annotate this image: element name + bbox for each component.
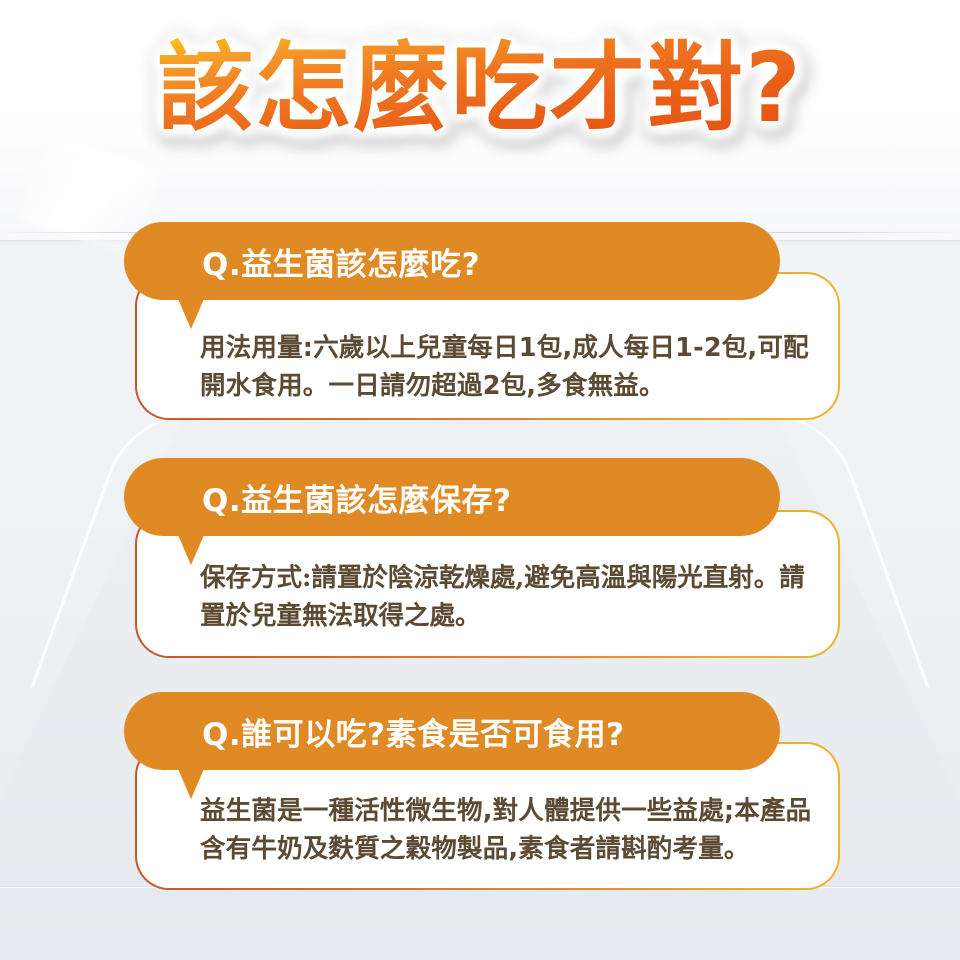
faq-question-bubble-1[interactable]: Q.益生菌該怎麼吃? <box>124 222 780 300</box>
faq-question-text-2: Q.益生菌該怎麼保存? <box>124 475 512 520</box>
faq-poster: 該怎麼吃才對? Q.益生菌該怎麼吃? 用法用量:六歲以上兒童每日1包,成人每日1… <box>0 0 960 960</box>
page-title: 該怎麼吃才對? <box>157 38 803 139</box>
faq-question-bubble-2[interactable]: Q.益生菌該怎麼保存? <box>124 458 780 536</box>
headline-container: 該怎麼吃才對? <box>0 38 960 139</box>
faq-bubble-tail-3 <box>178 769 204 799</box>
faq-answer-text-2: 保存方式:請置於陰涼乾燥處,避免高溫與陽光直射。請置於兒童無法取得之處。 <box>200 560 815 635</box>
background-bottom-band <box>0 887 960 960</box>
faq-answer-text-3: 益生菌是一種活性微生物,對人體提供一些益處;本產品含有牛奶及麩質之穀物製品,素食… <box>200 793 815 868</box>
faq-bubble-tail-2 <box>178 535 204 565</box>
faq-bubble-tail-1 <box>178 299 204 329</box>
faq-question-bubble-3[interactable]: Q.誰可以吃?素食是否可食用? <box>124 692 780 770</box>
faq-question-text-1: Q.益生菌該怎麼吃? <box>124 239 480 284</box>
faq-answer-text-1: 用法用量:六歲以上兒童每日1包,成人每日1-2包,可配開水食用。一日請勿超過2包… <box>200 330 815 405</box>
faq-question-text-3: Q.誰可以吃?素食是否可食用? <box>124 709 625 754</box>
